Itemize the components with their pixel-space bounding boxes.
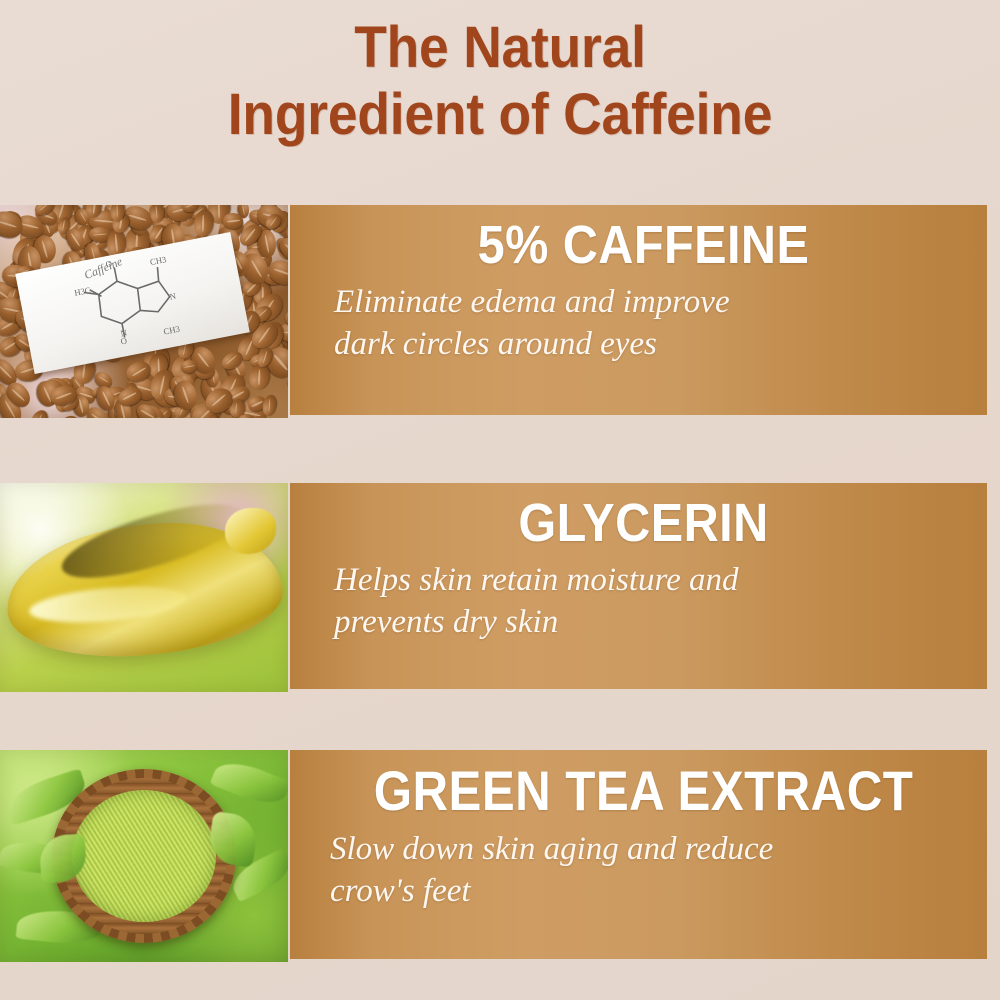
ingredient-row-glycerin: GLYCERIN Helps skin retain moisture and …	[0, 483, 1000, 692]
ingredient-panel-green-tea: GREEN TEA EXTRACT Slow down skin aging a…	[290, 750, 987, 959]
page-title: The Natural Ingredient of Caffeine	[0, 18, 1000, 144]
ingredient-infographic: The Natural Ingredient of Caffeine	[0, 0, 1000, 1000]
svg-text:CH3: CH3	[149, 254, 167, 267]
coffee-bean	[27, 407, 51, 418]
description-line-2: prevents dry skin	[334, 602, 954, 644]
description-line-1: Eliminate edema and improve	[334, 282, 954, 324]
ingredient-image-green-tea	[0, 750, 288, 962]
page-title-line-2: Ingredient of Caffeine	[40, 85, 960, 144]
tea-leaves-in-basket	[72, 790, 216, 922]
svg-text:CH3: CH3	[163, 323, 181, 336]
description-line-2: dark circles around eyes	[334, 324, 954, 366]
ingredient-image-caffeine: O CH3 H3C O N N CH3 Caffeine	[0, 205, 288, 418]
coffee-bean	[222, 213, 243, 230]
page-title-line-1: The Natural	[40, 18, 960, 77]
ingredient-panel-glycerin: GLYCERIN Helps skin retain moisture and …	[290, 483, 987, 689]
svg-text:H3C: H3C	[73, 285, 91, 298]
ingredient-heading-caffeine: 5% CAFFEINE	[347, 217, 940, 274]
ingredient-heading-green-tea: GREEN TEA EXTRACT	[354, 762, 934, 821]
description-line-1: Slow down skin aging and reduce	[330, 829, 950, 871]
description-line-1: Helps skin retain moisture and	[334, 560, 954, 602]
ingredient-image-glycerin	[0, 483, 288, 692]
ingredient-heading-glycerin: GLYCERIN	[347, 495, 940, 552]
description-line-2: crow's feet	[330, 871, 950, 913]
svg-text:N: N	[169, 290, 178, 301]
ingredient-row-green-tea: GREEN TEA EXTRACT Slow down skin aging a…	[0, 750, 1000, 962]
ingredient-description-green-tea: Slow down skin aging and reduce crow's f…	[330, 829, 950, 913]
ingredient-row-caffeine: O CH3 H3C O N N CH3 Caffeine 5% CAFFEINE…	[0, 205, 1000, 418]
ingredient-panel-caffeine: 5% CAFFEINE Eliminate edema and improve …	[290, 205, 987, 415]
svg-text:N: N	[120, 327, 129, 338]
ingredient-description-glycerin: Helps skin retain moisture and prevents …	[334, 560, 954, 644]
ingredient-description-caffeine: Eliminate edema and improve dark circles…	[334, 282, 954, 366]
